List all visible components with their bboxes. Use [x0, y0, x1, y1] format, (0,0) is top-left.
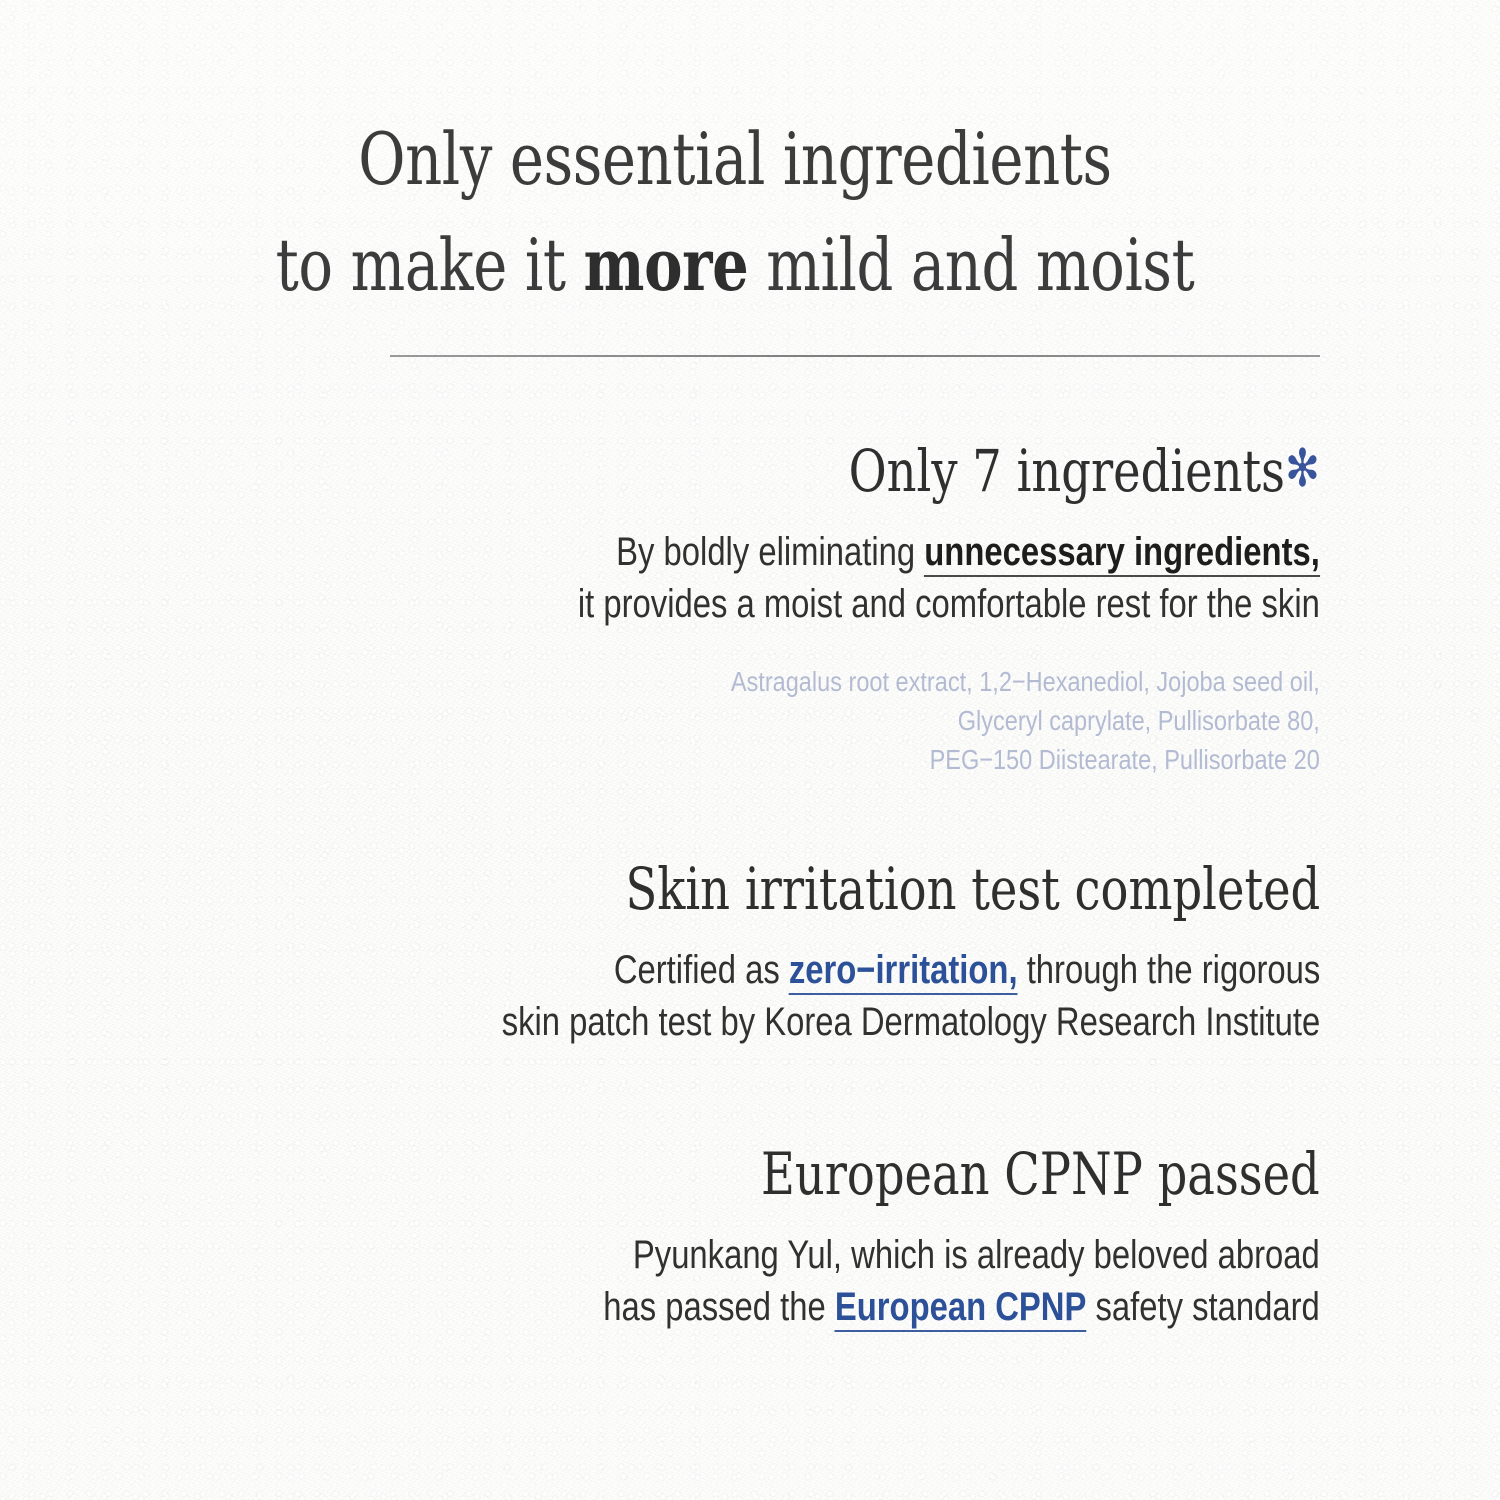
body-text-after: through the rigorous	[1017, 948, 1320, 992]
section-ingredients-body-line-1: By boldly eliminating unnecessary ingred…	[578, 526, 1320, 578]
section-irritation-body-line-2: skin patch test by Korea Dermatology Res…	[501, 996, 1320, 1048]
section-irritation-title: Skin irritation test completed	[521, 858, 1320, 920]
section-ingredients-body: By boldly eliminating unnecessary ingred…	[578, 526, 1320, 630]
asterisk-icon: ✻	[1285, 439, 1320, 499]
section-cpnp: European CPNP passed Pyunkang Yul, which…	[446, 1143, 1320, 1333]
section-cpnp-body-line-1: Pyunkang Yul, which is already beloved a…	[604, 1229, 1320, 1281]
section-ingredients: Only 7 ingredients✻ By boldly eliminatin…	[415, 438, 1320, 779]
promo-page: Only essential ingredients to make it mo…	[0, 0, 1500, 1500]
headline-emphasis: more	[584, 222, 749, 307]
body-text-before: has passed the	[604, 1285, 836, 1329]
highlight-zero-irritation: zero−irritation,	[789, 948, 1018, 995]
headline-line-2-before: to make it	[276, 223, 584, 307]
body-text-before: Certified as	[614, 948, 789, 992]
highlight-european-cpnp: European CPNP	[835, 1285, 1087, 1332]
section-divider	[390, 355, 1320, 357]
ingredient-list-line-2: Glyceryl caprylate, Pullisorbate 80,	[560, 701, 1320, 740]
section-ingredients-body-line-2: it provides a moist and comfortable rest…	[578, 578, 1320, 630]
ingredient-list-line-3: PEG−150 Diistearate, Pullisorbate 20	[560, 740, 1320, 779]
ingredient-list: Astragalus root extract, 1,2−Hexanediol,…	[560, 662, 1320, 779]
highlight-unnecessary-ingredients: unnecessary ingredients,	[924, 530, 1320, 577]
headline-line-2: to make it more mild and moist	[267, 212, 1203, 318]
section-irritation-body: Certified as zero−irritation, through th…	[501, 944, 1320, 1048]
headline-line-1: Only essential ingredients	[267, 106, 1203, 212]
section-ingredients-title-text: Only 7 ingredients	[849, 437, 1285, 505]
section-ingredients-title: Only 7 ingredients✻	[596, 438, 1320, 502]
section-cpnp-title: European CPNP passed	[621, 1143, 1320, 1205]
section-irritation-test: Skin irritation test completed Certified…	[322, 858, 1320, 1048]
ingredient-list-line-1: Astragalus root extract, 1,2−Hexanediol,…	[560, 662, 1320, 701]
headline-line-2-after: mild and moist	[748, 223, 1194, 307]
page-title: Only essential ingredients to make it mo…	[267, 106, 1203, 318]
section-cpnp-body-line-2: has passed the European CPNP safety stan…	[604, 1281, 1320, 1333]
section-cpnp-body: Pyunkang Yul, which is already beloved a…	[604, 1229, 1320, 1333]
body-text-after: safety standard	[1087, 1285, 1320, 1329]
page-content: Only essential ingredients to make it mo…	[0, 0, 1500, 1500]
section-irritation-body-line-1: Certified as zero−irritation, through th…	[501, 944, 1320, 996]
body-text-before: By boldly eliminating	[616, 530, 924, 574]
